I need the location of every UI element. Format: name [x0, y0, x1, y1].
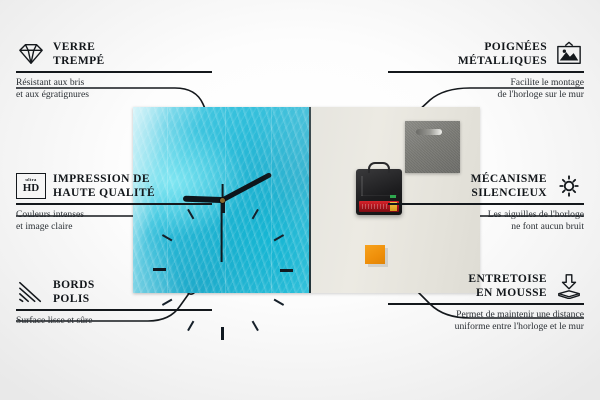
feature-desc: ne font aucun bruit	[388, 221, 584, 233]
clock-tick	[222, 270, 224, 340]
divider	[16, 309, 212, 311]
metal-hanger-plate	[405, 121, 460, 173]
feature-verre-trempe: VERRE TREMPÉ Résistant aux bris et aux é…	[16, 40, 212, 101]
feature-title: POLIS	[53, 292, 95, 306]
divider	[388, 303, 584, 305]
feature-desc: uniforme entre l'horloge et le mur	[388, 321, 584, 333]
feature-title: VERRE	[53, 40, 105, 54]
gear-icon	[554, 173, 584, 199]
divider	[388, 203, 584, 205]
clock-tick	[222, 209, 259, 271]
clock-center-cap	[220, 198, 225, 203]
feature-mecanisme-silencieux: MÉCANISME SILENCIEUX Les aiguilles de l'…	[388, 172, 584, 233]
feature-bords-polis: BORDS POLIS Surface lisse et sûre	[16, 278, 212, 327]
feature-title: IMPRESSION DE	[53, 172, 155, 186]
feature-title: MÉCANISME	[471, 172, 547, 186]
arrow-down-pad-icon	[554, 273, 584, 299]
divider	[16, 71, 212, 73]
diagonal-lines-icon	[16, 279, 46, 305]
mechanism-handle	[368, 162, 390, 173]
feature-desc: de l'horloge sur le mur	[388, 89, 584, 101]
feature-desc: Couleurs intenses	[16, 209, 212, 221]
feature-desc: et aux égratignures	[16, 89, 212, 101]
battery-label	[362, 204, 388, 209]
feature-desc: Résistant aux bris	[16, 77, 212, 89]
feature-poignees-metalliques: POIGNÉES MÉTALLIQUES Facilite le montage…	[388, 40, 584, 101]
clock-second-hand	[221, 200, 223, 262]
clock-tick	[153, 269, 223, 271]
feature-title: ENTRETOISE	[468, 272, 547, 286]
feature-title: MÉTALLIQUES	[458, 54, 547, 68]
feature-entretoise-en-mousse: ENTRETOISE EN MOUSSE Permet de maintenir…	[388, 272, 584, 333]
feature-desc: et image claire	[16, 221, 212, 233]
divider	[388, 71, 584, 73]
foam-spacer	[365, 245, 385, 264]
badge-main-label: HD	[23, 183, 40, 194]
picture-frame-hanger-icon	[554, 41, 584, 67]
feature-title: TREMPÉ	[53, 54, 105, 68]
feature-desc: Facilite le montage	[388, 77, 584, 89]
feature-title: BORDS	[53, 278, 95, 292]
diamond-icon	[16, 41, 46, 67]
feature-title: POIGNÉES	[458, 40, 547, 54]
feature-title: EN MOUSSE	[468, 286, 547, 300]
feature-desc: Surface lisse et sûre	[16, 315, 212, 327]
feature-desc: Les aiguilles de l'horloge	[388, 209, 584, 221]
feature-title: SILENCIEUX	[471, 186, 547, 200]
feature-impression-haute-qualite: ultra HD IMPRESSION DE HAUTE QUALITÉ Cou…	[16, 172, 212, 233]
hanger-slot	[416, 129, 442, 135]
clock-tick	[223, 269, 293, 271]
feature-desc: Permet de maintenir une distance	[388, 309, 584, 321]
divider	[16, 203, 212, 205]
clock-minute-hand	[221, 172, 272, 202]
ultra-hd-badge-icon: ultra HD	[16, 173, 46, 199]
infographic-stage: VERRE TREMPÉ Résistant aux bris et aux é…	[0, 0, 600, 400]
feature-title: HAUTE QUALITÉ	[53, 186, 155, 200]
